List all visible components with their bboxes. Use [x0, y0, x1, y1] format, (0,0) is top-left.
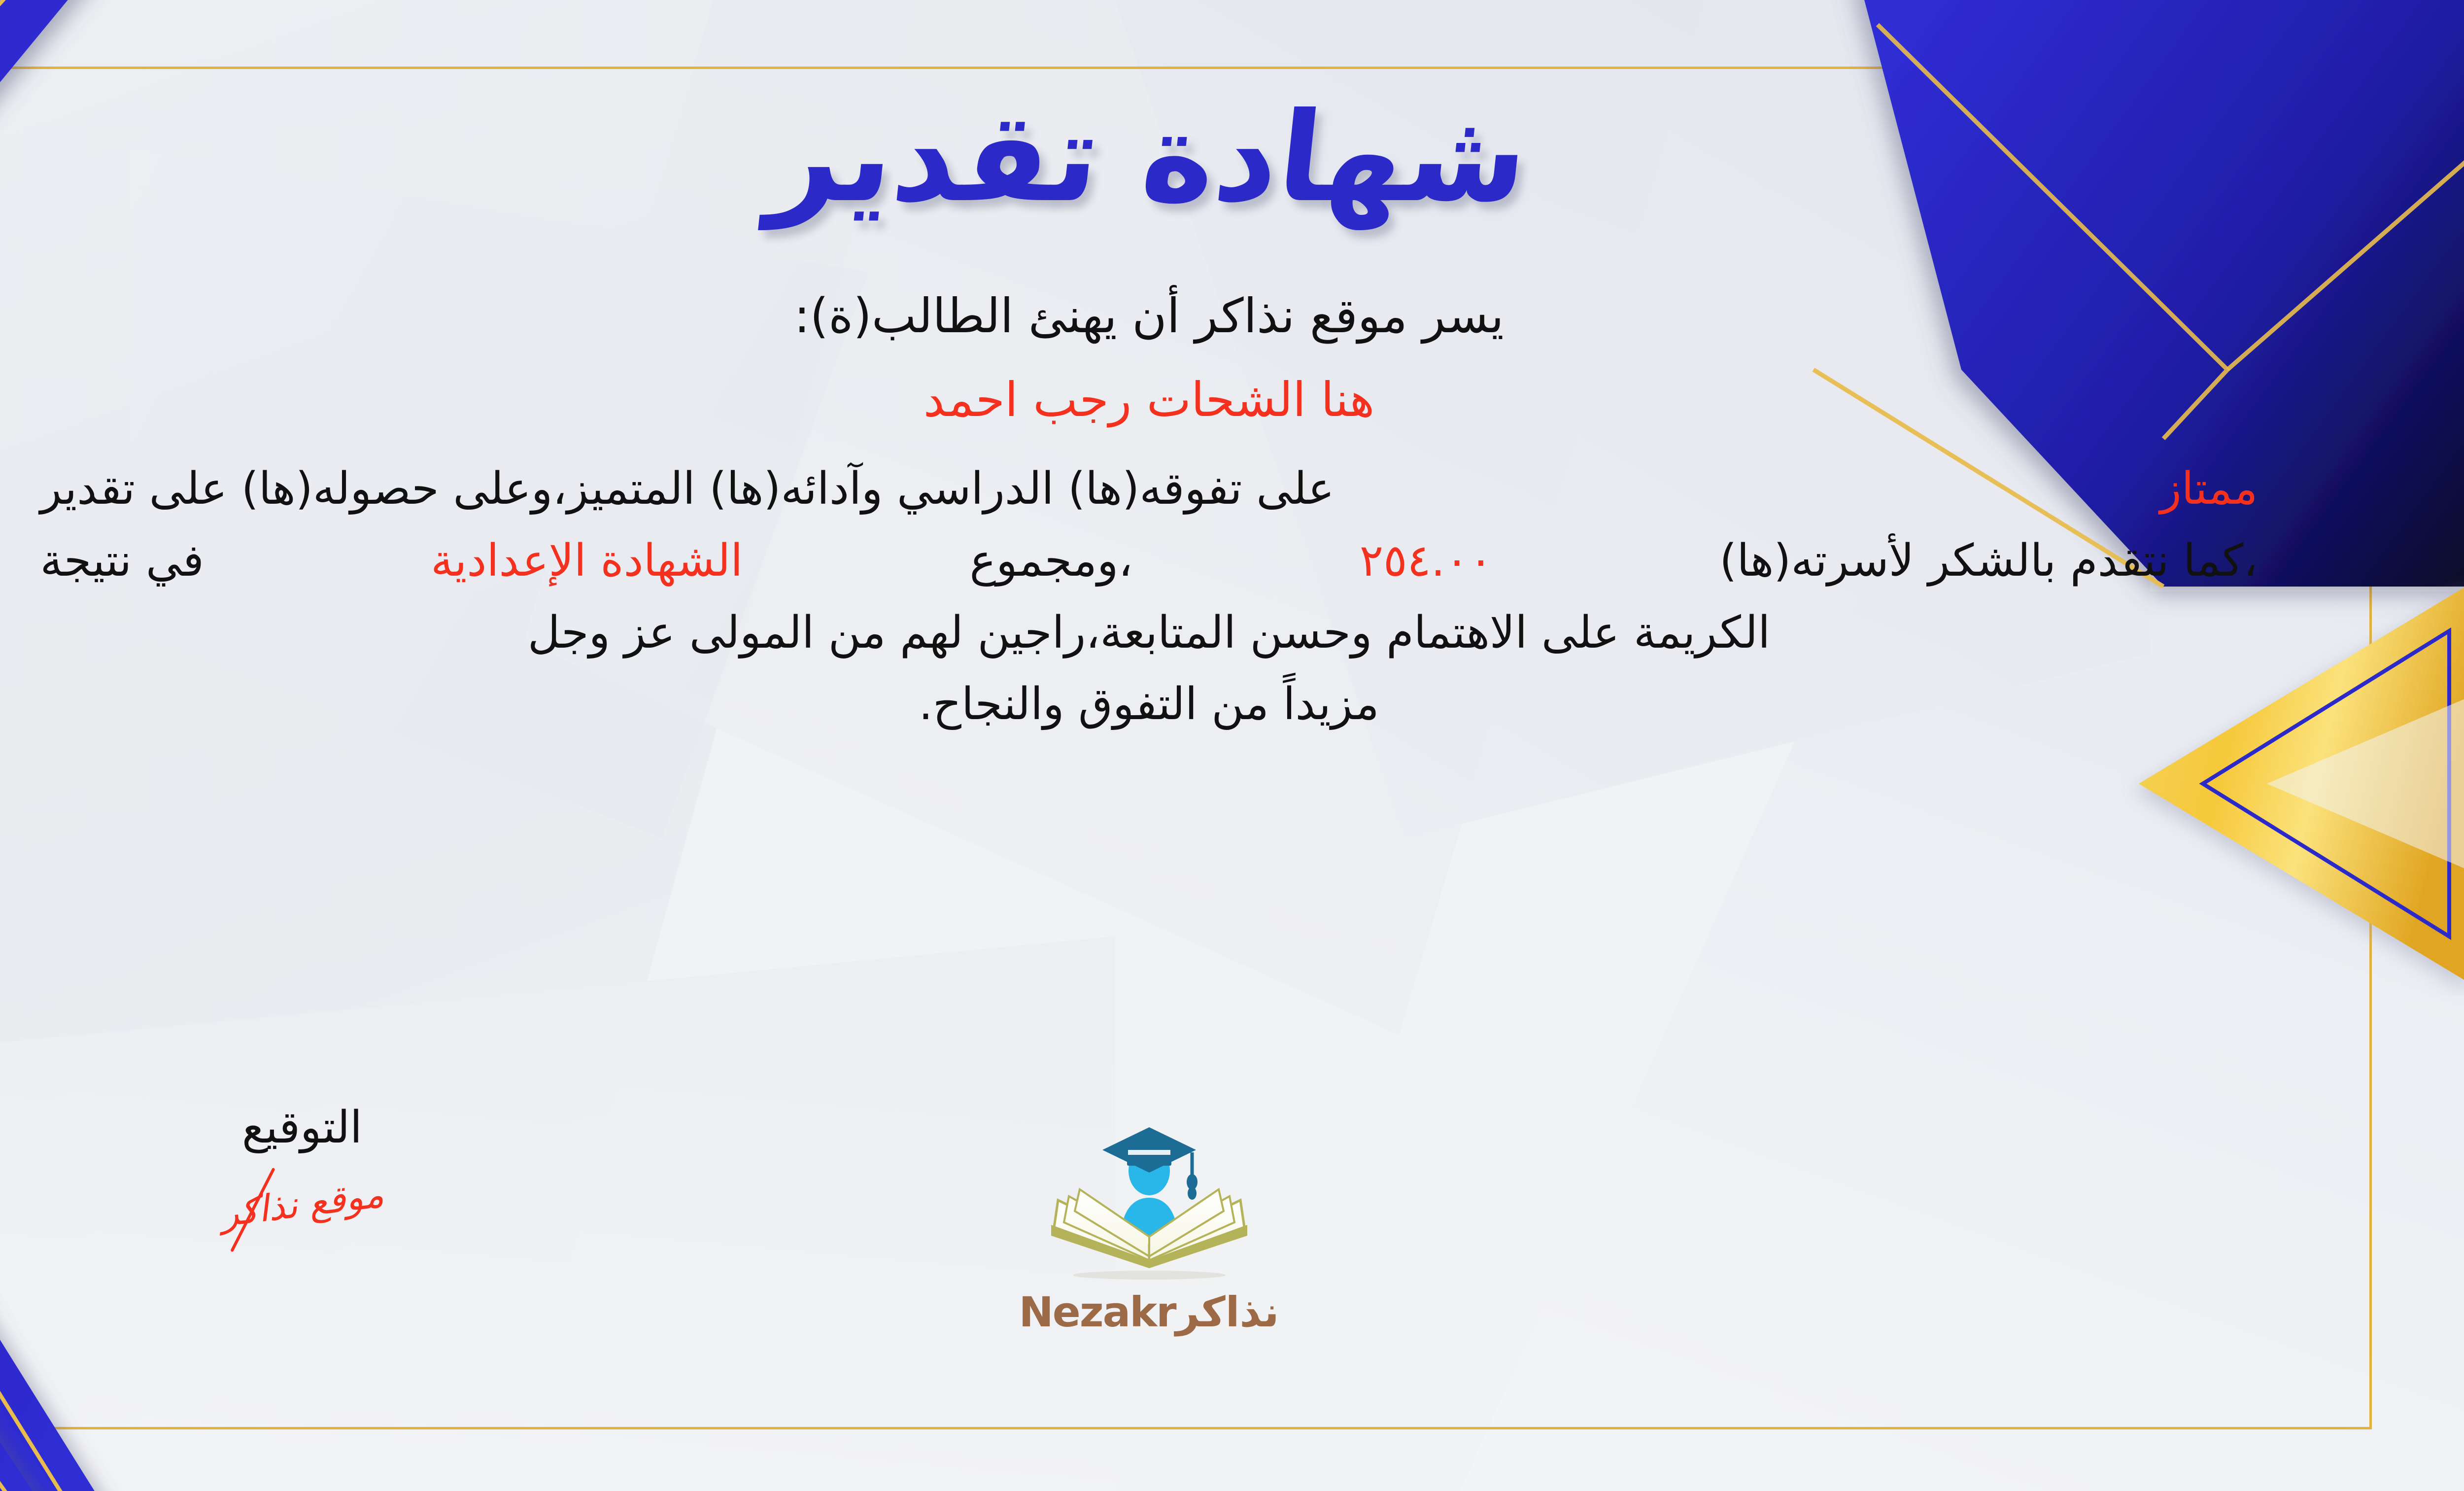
page-title: شهادة تقدير: [764, 96, 1534, 219]
citation-line-2-head: في نتيجة: [40, 525, 204, 597]
total-value: ٢٥٤.٠٠: [1360, 525, 1493, 597]
greeting-text: يسر موقع نذاكر أن يهنئ الطالب(ة):: [794, 288, 1504, 344]
citation-line-2-tail: ،كما نتقدم بالشكر لأسرته(ها): [1719, 525, 2258, 597]
citation-line-2: ،كما نتقدم بالشكر لأسرته(ها) ٢٥٤.٠٠ ،ومج…: [40, 525, 2258, 597]
certificate-content: شهادة تقدير يسر موقع نذاكر أن يهنئ الطال…: [0, 0, 2464, 1491]
citation-line-1-text: على تفوقه(ها) الدراسي وآدائه(ها) المتميز…: [40, 453, 1335, 525]
student-name: هنا الشحات رجب احمد: [924, 372, 1374, 427]
total-label: ،ومجموع: [969, 525, 1132, 597]
citation-line-4: مزيداً من التفوق والنجاح.: [40, 668, 2258, 740]
citation-line-1: ممتاز على تفوقه(ها) الدراسي وآدائه(ها) ا…: [40, 453, 2258, 525]
certificate-stage: الشهادة الإعدادية: [431, 525, 743, 597]
certificate-canvas: شهادة تقدير يسر موقع نذاكر أن يهنئ الطال…: [0, 0, 2464, 1491]
citation-paragraph: ممتاز على تفوقه(ها) الدراسي وآدائه(ها) ا…: [40, 453, 2258, 740]
citation-line-3: الكريمة على الاهتمام وحسن المتابعة،راجين…: [40, 597, 2258, 669]
grade-value: ممتاز: [2160, 453, 2258, 525]
